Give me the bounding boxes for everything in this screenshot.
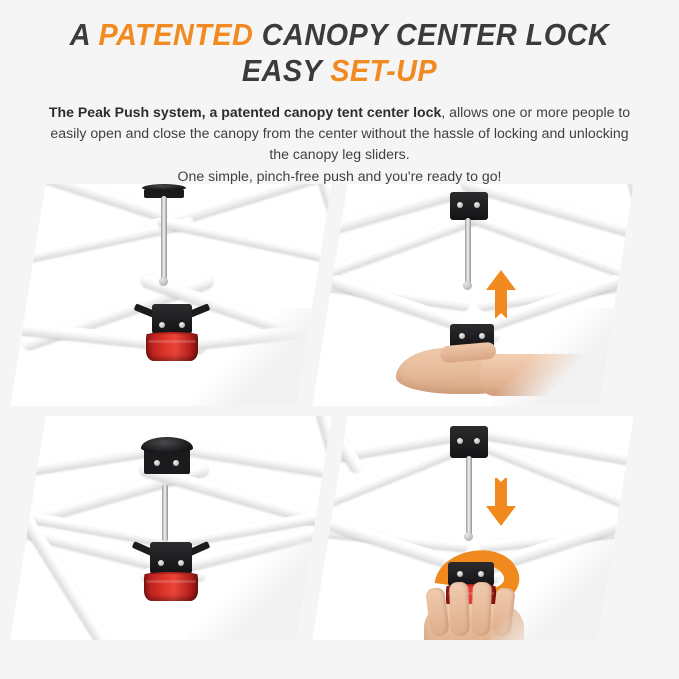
rod-tip <box>463 281 472 290</box>
center-lock-hub <box>138 302 206 364</box>
hub-bolt <box>154 460 160 466</box>
page-title-line-2: EASY SET-UP <box>46 52 633 90</box>
red-push-knob <box>146 334 198 361</box>
center-rod <box>466 456 472 536</box>
description-paragraph: The Peak Push system, a patented canopy … <box>40 102 640 188</box>
panel-grid <box>0 182 679 647</box>
title-highlight-setup: SET-UP <box>330 53 437 88</box>
hub-body <box>450 426 488 458</box>
hub-bolt <box>457 438 463 444</box>
frame-bar <box>157 215 332 267</box>
panel-pull-down <box>312 416 633 640</box>
header: A PATENTED CANOPY CENTER LOCK EASY SET-U… <box>0 0 679 187</box>
arrow-down-icon <box>486 472 516 526</box>
finger <box>471 582 492 637</box>
hub-bolt <box>474 202 480 208</box>
hub-bolt <box>173 460 179 466</box>
finger <box>449 582 470 637</box>
panel-collapsed <box>10 184 331 406</box>
hub-bolt <box>457 202 463 208</box>
hub-bolt <box>478 571 484 577</box>
arrow-shaft <box>495 478 507 508</box>
red-push-knob <box>144 574 198 601</box>
title-text-a: A <box>70 17 99 52</box>
center-rod <box>465 218 471 284</box>
hub-bolt <box>479 333 485 339</box>
page-title-line-1: A PATENTED CANOPY CENTER LOCK <box>46 16 633 54</box>
arrow-tail-notch <box>495 476 507 482</box>
hub-bolt <box>474 438 480 444</box>
arrow-tail-notch <box>495 313 507 319</box>
arrow-head <box>486 506 516 526</box>
panel-push-up <box>312 184 633 406</box>
center-rod <box>161 196 167 280</box>
hub-bolt <box>459 333 465 339</box>
arrow-head <box>486 270 516 290</box>
peak-cap-icon <box>144 448 190 474</box>
hub-body <box>150 542 192 574</box>
center-lock-hub <box>136 538 206 604</box>
hand-open-palm <box>396 344 626 406</box>
description-bold-lead: The Peak Push system, a patented canopy … <box>49 104 441 120</box>
frame-leg-bar <box>312 184 332 304</box>
panel-open <box>10 416 331 640</box>
center-rod <box>162 484 168 542</box>
hub-body <box>450 192 488 220</box>
forearm <box>480 354 630 396</box>
hub-bolt <box>178 560 184 566</box>
hub-bolt <box>457 571 463 577</box>
arrow-up-icon <box>486 270 516 322</box>
title-text-canopy-center-lock: CANOPY CENTER LOCK <box>253 17 609 52</box>
rod-tip <box>159 277 168 286</box>
infographic-sheet: A PATENTED CANOPY CENTER LOCK EASY SET-U… <box>0 0 679 679</box>
hub-body <box>152 304 192 334</box>
peak-hub <box>140 442 198 488</box>
hand-grip <box>416 580 546 640</box>
hub-bolt <box>158 560 164 566</box>
title-text-easy: EASY <box>242 53 330 88</box>
hub-bolt <box>179 322 185 328</box>
hub-bolt <box>159 322 165 328</box>
title-highlight-patented: PATENTED <box>98 17 253 52</box>
